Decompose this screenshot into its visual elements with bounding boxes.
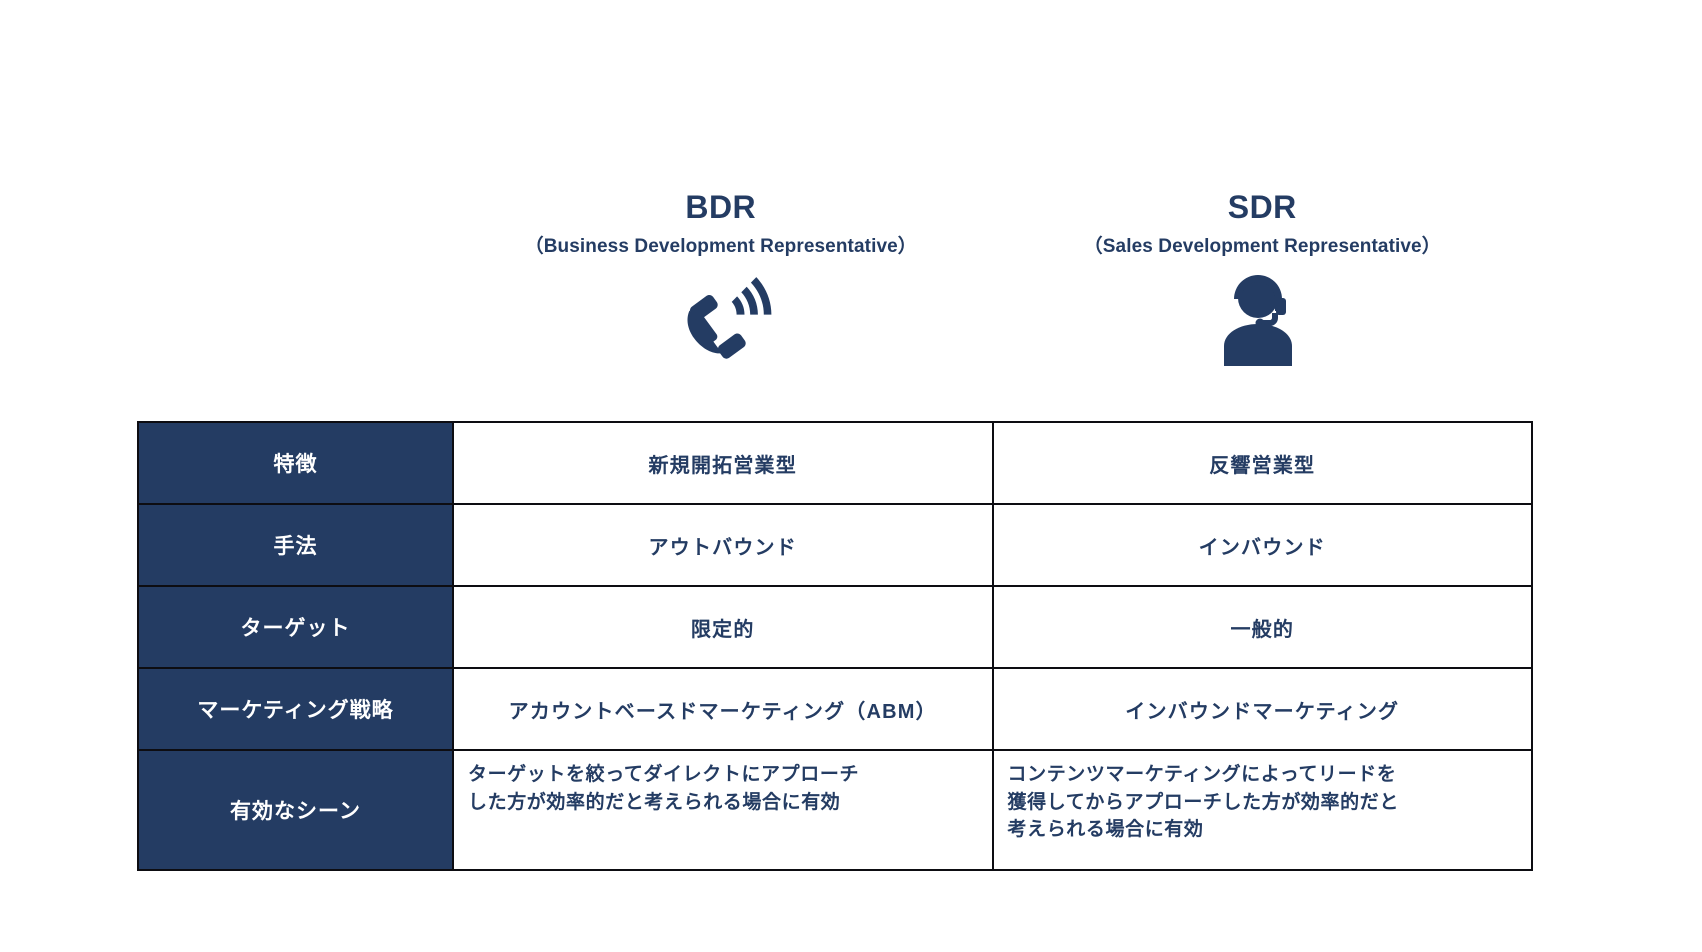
bdr-full-name: （Business Development Representative） [450,231,992,258]
table-row: 手法 アウトバウンド インバウンド [138,504,1532,586]
cell-bdr-feature: 新規開拓営業型 [453,422,993,504]
cell-sdr-effective-scene: コンテンツマーケティングによってリードを 獲得してからアプローチした方が効率的だ… [993,750,1533,870]
cell-sdr-feature: 反響営業型 [993,422,1533,504]
cell-sdr-target: 一般的 [993,586,1533,668]
row-label-marketing-strategy: マーケティング戦略 [138,668,453,750]
column-header-bdr: BDR （Business Development Representative… [450,190,992,366]
cell-bdr-marketing-strategy: アカウントベースドマーケティング（ABM） [453,668,993,750]
row-label-target: ターゲット [138,586,453,668]
comparison-diagram: BDR （Business Development Representative… [0,0,1702,952]
row-label-method: 手法 [138,504,453,586]
table-row: マーケティング戦略 アカウントベースドマーケティング（ABM） インバウンドマー… [138,668,1532,750]
cell-sdr-method: インバウンド [993,504,1533,586]
bdr-abbreviation: BDR [450,190,992,225]
headset-operator-icon [992,270,1534,366]
row-label-effective-scene: 有効なシーン [138,750,453,870]
column-headers: BDR （Business Development Representative… [137,190,1533,366]
table-row: 有効なシーン ターゲットを絞ってダイレクトにアプローチ した方が効率的だと考えら… [138,750,1532,870]
cell-bdr-effective-scene: ターゲットを絞ってダイレクトにアプローチ した方が効率的だと考えられる場合に有効 [453,750,993,870]
cell-sdr-marketing-strategy: インバウンドマーケティング [993,668,1533,750]
row-label-feature: 特徴 [138,422,453,504]
table-row: 特徴 新規開拓営業型 反響営業型 [138,422,1532,504]
sdr-full-name: （Sales Development Representative） [992,231,1534,258]
column-header-sdr: SDR （Sales Development Representative） [992,190,1534,366]
phone-ringing-icon [450,270,992,366]
table-row: ターゲット 限定的 一般的 [138,586,1532,668]
comparison-table: 特徴 新規開拓営業型 反響営業型 手法 アウトバウンド インバウンド ターゲット… [137,421,1533,871]
cell-bdr-method: アウトバウンド [453,504,993,586]
sdr-abbreviation: SDR [992,190,1534,225]
cell-bdr-target: 限定的 [453,586,993,668]
